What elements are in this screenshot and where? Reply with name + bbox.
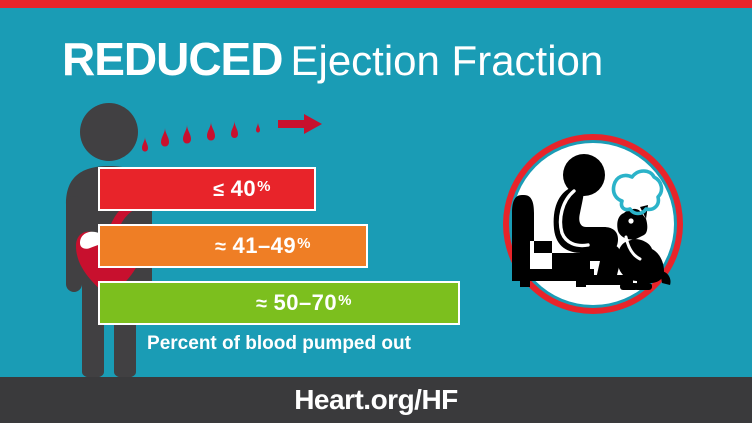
bar-reduced-label: ≤40% (213, 176, 271, 202)
chart-caption: Percent of blood pumped out (98, 333, 460, 355)
seated-person-with-service-dog-icon (500, 131, 686, 317)
bar-normal: ≈50–70% (98, 281, 460, 325)
bar-borderline-label: ≈41–49% (215, 233, 311, 259)
bar-normal-value: 50–70 (273, 290, 337, 315)
bar-reduced-percent: % (257, 178, 271, 195)
footer-bar: Heart.org/HF (0, 377, 752, 423)
infographic-canvas: REDUCEDEjection Fraction (0, 0, 752, 423)
footer-url-label[interactable]: Heart.org/HF (294, 384, 458, 416)
top-accent-stripe (0, 0, 752, 8)
title-strong-word: REDUCED (62, 33, 282, 85)
bar-borderline-value: 41–49 (232, 233, 296, 258)
bar-borderline: ≈41–49% (98, 224, 368, 268)
page-title: REDUCEDEjection Fraction (62, 28, 722, 90)
bar-reduced-value: 40 (231, 176, 256, 201)
bar-reduced-symbol: ≤ (213, 179, 224, 201)
bar-borderline-percent: % (297, 235, 311, 252)
bar-borderline-symbol: ≈ (215, 236, 226, 258)
title-light-words: Ejection Fraction (290, 37, 603, 84)
blood-flow-droplets-icon (128, 108, 328, 160)
bar-normal-percent: % (338, 292, 352, 309)
bar-normal-symbol: ≈ (256, 293, 267, 315)
bar-reduced: ≤40% (98, 167, 316, 211)
bar-normal-label: ≈50–70% (256, 290, 352, 316)
